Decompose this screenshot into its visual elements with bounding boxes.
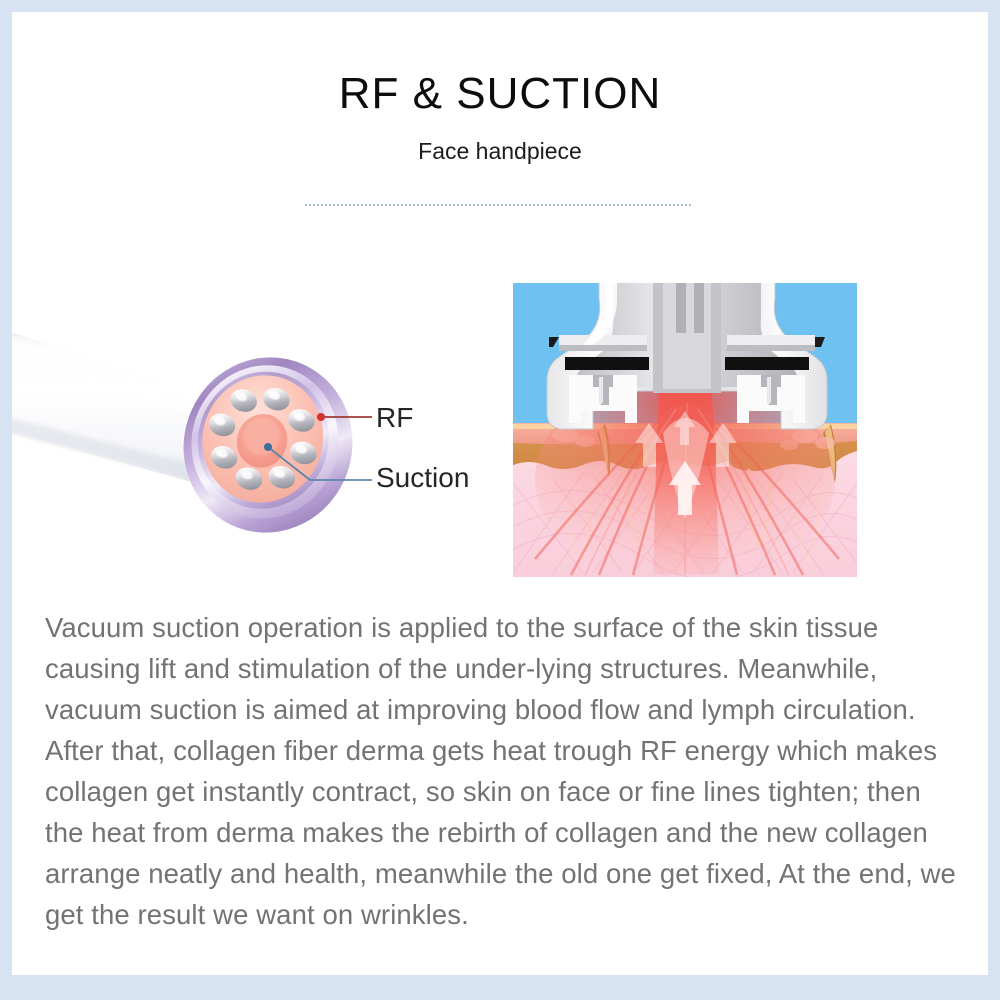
electrode-contact-bar-left (565, 357, 649, 370)
skin-cross-section-illustration (513, 283, 857, 577)
callout-label-rf: RF (376, 404, 413, 432)
electrode-contact-bar-right (725, 357, 809, 370)
content-card: RF & SUCTION Face handpiece (12, 12, 988, 975)
callout-label-suction: Suction (376, 464, 469, 492)
header-divider (305, 204, 691, 207)
page-title: RF & SUCTION (12, 72, 988, 116)
description-paragraph: Vacuum suction operation is applied to t… (45, 607, 965, 935)
handpiece-illustration (12, 288, 500, 588)
infographic-page: RF & SUCTION Face handpiece (0, 0, 1000, 1000)
page-subtitle: Face handpiece (12, 140, 988, 163)
